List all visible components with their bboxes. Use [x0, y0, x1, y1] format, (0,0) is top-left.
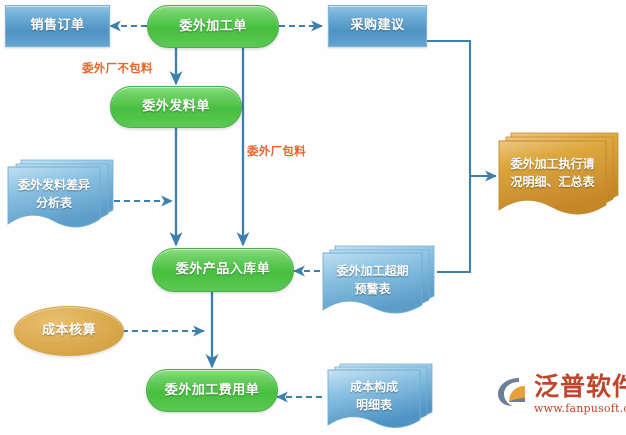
node-purchase-advice[interactable]: 采购建议: [328, 5, 427, 47]
doc-line-2: 分析表: [36, 194, 72, 212]
annotation-with-material-supply: 委外厂包料: [247, 143, 306, 159]
node-issue-material[interactable]: 委外发料单: [110, 86, 242, 128]
flowchart-diagram: 销售订单 委外加工单 采购建议 委外发料单 委外产品入库单 委外加工费用单 成本…: [0, 0, 626, 435]
doc-line-1: 委外加工执行请: [510, 155, 594, 173]
doc-execution-report[interactable]: 委外加工执行请 况明细、汇总表: [496, 131, 622, 223]
brand-name: 泛普软件: [534, 374, 626, 399]
brand-logo: 泛普软件 www.fanpusoft.com: [497, 374, 626, 415]
doc-overdue-label: 委外加工超期 预警表: [323, 258, 422, 302]
node-sales-order[interactable]: 销售订单: [5, 5, 110, 47]
node-processing-fee[interactable]: 委外加工费用单: [146, 369, 278, 412]
doc-line-2: 预警表: [354, 280, 390, 298]
doc-overdue-warning[interactable]: 委外加工超期 预警表: [320, 244, 440, 322]
doc-issue-variance-label: 委外发料差异 分析表: [8, 172, 100, 216]
doc-execution-label: 委外加工执行请 况明细、汇总表: [499, 147, 606, 199]
doc-cost-structure-label: 成本构成 明细表: [328, 375, 420, 417]
node-product-receipt[interactable]: 委外产品入库单: [152, 248, 294, 292]
doc-cost-structure-report[interactable]: 成本构成 明细表: [325, 362, 437, 435]
brand-url: www.fanpusoft.com: [534, 402, 626, 415]
doc-line-2: 况明细、汇总表: [510, 173, 594, 191]
doc-line-2: 明细表: [356, 396, 392, 414]
fanpu-swoosh-icon: [497, 376, 533, 408]
edge-overdue-to-execution: [437, 176, 470, 272]
node-outsource-order[interactable]: 委外加工单: [147, 5, 279, 48]
doc-issue-variance-report[interactable]: 委外发料差异 分析表: [5, 158, 117, 236]
annotation-no-material-supply: 委外厂不包料: [82, 60, 153, 76]
doc-line-1: 委外加工超期: [336, 262, 408, 280]
edge-purchase-to-execution: [427, 41, 496, 176]
doc-line-1: 委外发料差异: [18, 176, 90, 194]
node-cost-accounting[interactable]: 成本核算: [14, 306, 124, 356]
doc-line-1: 成本构成: [350, 378, 398, 396]
